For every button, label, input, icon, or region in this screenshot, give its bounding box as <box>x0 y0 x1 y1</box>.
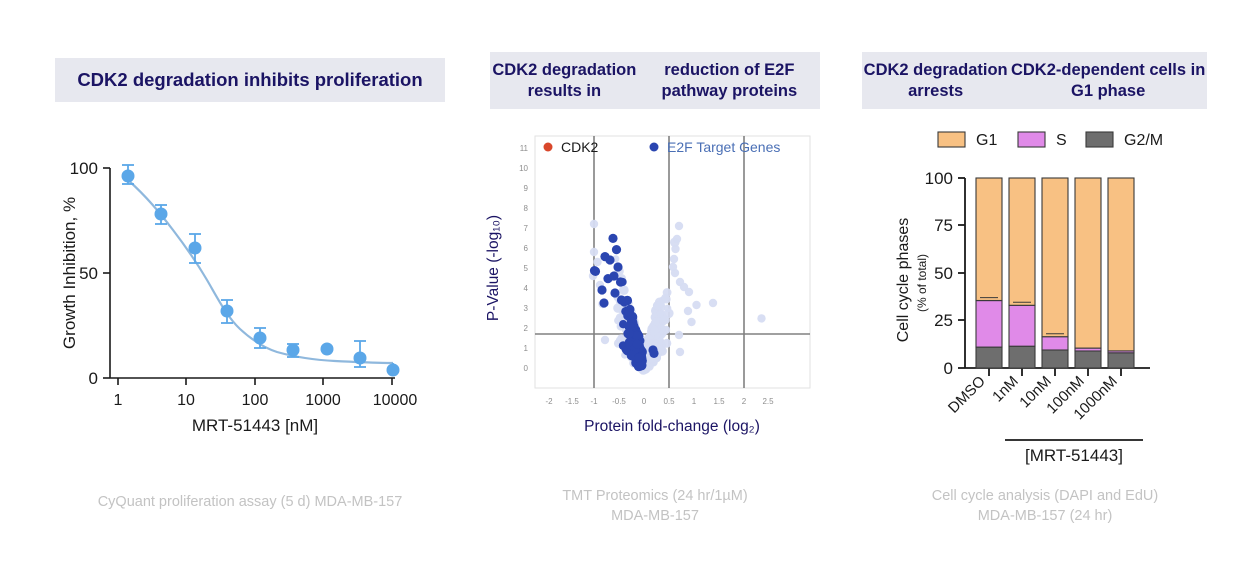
volcano-xaxis-label: Protein fold-change (log₂) <box>584 418 760 435</box>
legend-label-e2f: E2F Target Genes <box>667 139 780 155</box>
bar-segment-G1-10nM <box>1042 178 1068 337</box>
bar-segment-G2M-DMSO <box>976 347 1002 368</box>
volcano-ytick-1: 1 <box>524 344 529 353</box>
panel-2-title: CDK2 degradation results inreduction of … <box>490 52 820 109</box>
cell-cycle-chart: G1 S G2/M 100 75 50 25 0 C <box>860 120 1253 470</box>
chart-1-ytick-100: 100 <box>70 159 98 178</box>
chart-1-yaxis-label: Growth Inhibition, % <box>60 197 79 349</box>
panel-volcano: CDK2 degradation results inreduction of … <box>470 0 840 586</box>
bar-segment-G1-100nM <box>1075 178 1101 348</box>
bar-segment-G2M-10nM <box>1042 350 1068 368</box>
volcano-ytick-9: 9 <box>524 184 529 193</box>
cc-yaxis-label-line1: Cell cycle phases <box>895 218 912 343</box>
cc-yaxis-label-line2: (% of total) <box>915 254 929 312</box>
volcano-ytick-5: 5 <box>524 264 529 273</box>
chart-1-ytick-0: 0 <box>89 369 98 388</box>
legend-label-s: S <box>1056 132 1067 149</box>
cell-cycle-xticklabels: DMSO 1nM 10nM 100nM 1000nM <box>945 373 1121 423</box>
volcano-yticks: 11 10 9 8 7 6 5 4 3 2 1 0 <box>519 144 528 373</box>
panel-1-caption: CyQuant proliferation assay (5 d) MDA-MB… <box>40 492 460 512</box>
volcano-xticks: -2 -1.5 -1 -0.5 0 0.5 1 1.5 2 2.5 <box>545 397 774 406</box>
bar-segment-G1-1nM <box>1009 178 1035 305</box>
volcano-ytick-0: 0 <box>524 364 529 373</box>
cc-ytick-100: 100 <box>925 169 953 188</box>
bar-segment-S-1nM <box>1009 305 1035 346</box>
volcano-xtick-2: 2 <box>742 397 747 406</box>
cc-ytick-0: 0 <box>944 359 953 378</box>
volcano-ytick-10: 10 <box>519 164 528 173</box>
panel-1-title: CDK2 degradation inhibits proliferation <box>55 58 445 102</box>
volcano-xtick--1: -1 <box>590 397 598 406</box>
dose-response-chart: 100 50 0 1 10 100 1000 10000 MRT-51443 [… <box>55 135 455 435</box>
volcano-ytick-11: 11 <box>520 144 529 153</box>
legend-label-g2m: G2/M <box>1124 132 1163 149</box>
chart-1-xtick-1000: 1000 <box>305 392 341 409</box>
legend-swatch-s <box>1018 132 1045 147</box>
volcano-xtick-1.5: 1.5 <box>713 397 725 406</box>
volcano-plot: 11 10 9 8 7 6 5 4 3 2 1 0 -2 -1.5 -1 -0.… <box>480 128 835 448</box>
legend-swatch-g1 <box>938 132 965 147</box>
volcano-ytick-2: 2 <box>524 324 529 333</box>
volcano-xtick-0: 0 <box>642 397 647 406</box>
legend-swatch-g2m <box>1086 132 1113 147</box>
volcano-ytick-8: 8 <box>524 204 529 213</box>
volcano-ytick-3: 3 <box>524 304 529 313</box>
bar-segment-S-10nM <box>1042 337 1068 350</box>
cc-group-label: [MRT-51443] <box>1025 446 1123 465</box>
cc-xtick-dmso: DMSO <box>945 373 989 417</box>
cc-ytick-75: 75 <box>934 216 953 235</box>
panel-3-caption: Cell cycle analysis (DAPI and EdU)MDA-MB… <box>860 486 1230 526</box>
volcano-xtick--2: -2 <box>545 397 553 406</box>
volcano-ytick-6: 6 <box>524 244 529 253</box>
volcano-xtick--1.5: -1.5 <box>565 397 579 406</box>
chart-1-xtick-10000: 10000 <box>373 392 418 409</box>
cc-ytick-50: 50 <box>934 264 953 283</box>
panel-proliferation: CDK2 degradation inhibits proliferation … <box>0 0 470 586</box>
volcano-xtick--0.5: -0.5 <box>612 397 626 406</box>
bar-segment-G1-1000nM <box>1108 178 1134 351</box>
legend-dot-e2f <box>650 143 659 152</box>
volcano-xtick-0.5: 0.5 <box>663 397 675 406</box>
chart-1-xtick-100: 100 <box>242 392 269 409</box>
legend-dot-cdk2 <box>544 143 553 152</box>
chart-1-xaxis-label: MRT-51443 [nM] <box>192 416 318 435</box>
bar-segment-G1-DMSO <box>976 178 1002 301</box>
bar-segment-G2M-100nM <box>1075 351 1101 368</box>
volcano-xtick-2.5: 2.5 <box>762 397 774 406</box>
chart-1-axes <box>103 168 395 385</box>
cc-ytick-25: 25 <box>934 311 953 330</box>
bar-segment-G2M-1nM <box>1009 346 1035 368</box>
panel-cell-cycle: CDK2 degradation arrestsCDK2-dependent c… <box>840 0 1253 586</box>
chart-1-ytick-50: 50 <box>79 264 98 283</box>
bar-segment-S-DMSO <box>976 301 1002 348</box>
legend-label-cdk2: CDK2 <box>561 139 599 155</box>
volcano-yaxis-label: P-Value (-log₁₀) <box>485 215 502 321</box>
legend-label-g1: G1 <box>976 132 997 149</box>
panel-3-title: CDK2 degradation arrestsCDK2-dependent c… <box>862 52 1207 109</box>
chart-1-xtick-1: 1 <box>114 392 123 409</box>
cell-cycle-legend: G1 S G2/M <box>938 132 1163 149</box>
bar-segment-G2M-1000nM <box>1108 353 1134 368</box>
panel-2-caption: TMT Proteomics (24 hr/1µM)MDA-MB-157 <box>480 486 830 526</box>
volcano-ytick-4: 4 <box>524 284 529 293</box>
volcano-ytick-7: 7 <box>524 224 529 233</box>
chart-1-xtick-10: 10 <box>177 392 195 409</box>
volcano-xtick-1: 1 <box>692 397 697 406</box>
cell-cycle-bars <box>976 178 1134 368</box>
